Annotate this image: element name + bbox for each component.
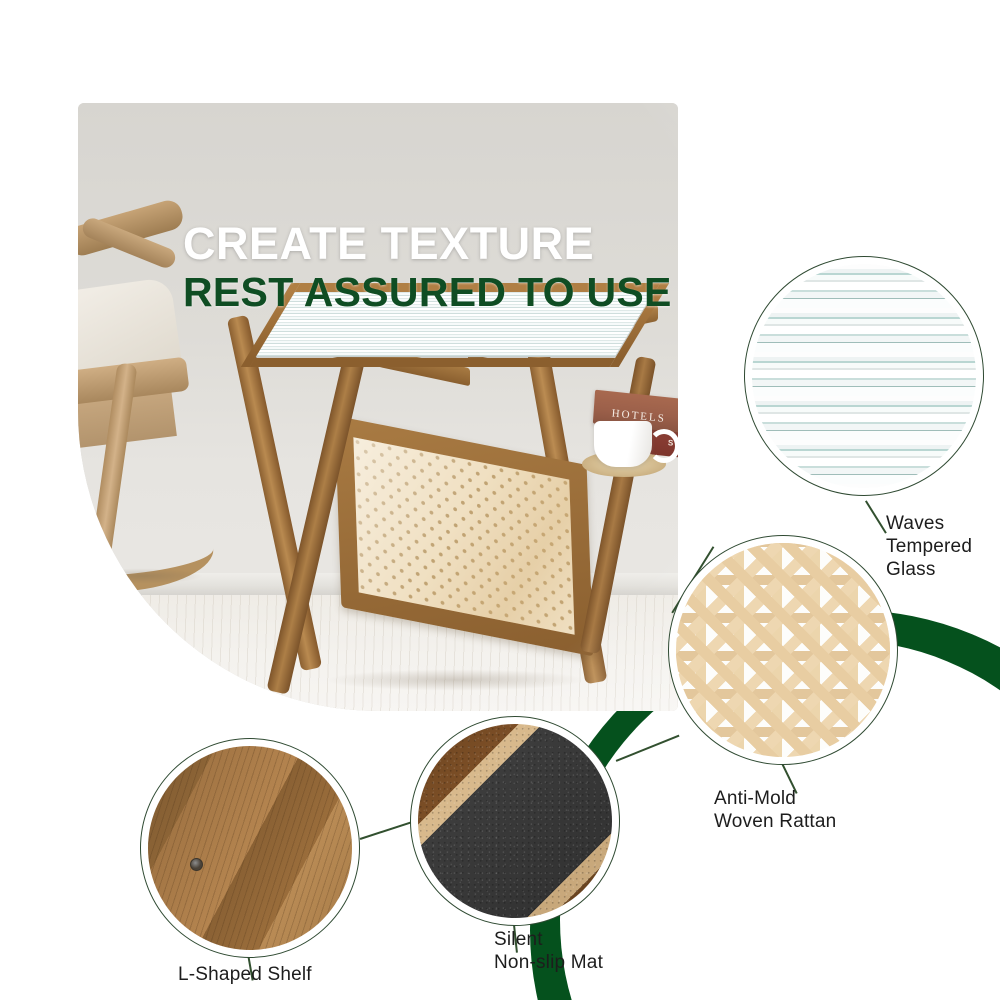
detail-circle-glass <box>744 256 984 496</box>
feature-label-rattan: Anti-Mold Woven Rattan <box>714 787 836 833</box>
feature-label-mat: Silent Non-slip Mat <box>494 928 603 974</box>
feature-label-shelf: L-Shaped Shelf <box>178 963 312 986</box>
anti-mold-woven-rattan-swatch <box>676 543 890 757</box>
feature-label-glass: Waves Tempered Glass <box>886 512 972 582</box>
headline-primary: CREATE TEXTURE <box>183 221 672 267</box>
ceramic-mug <box>594 421 652 467</box>
hero-product-photo: STATION HOTELS CREATE TEXTURE REST ASSUR… <box>78 103 678 711</box>
rattan-swatch-inner <box>676 543 890 757</box>
photo-vignette <box>78 103 678 711</box>
detail-circle-shelf <box>140 738 360 958</box>
mat-swatch-inner <box>418 724 612 918</box>
mug-handle <box>648 429 678 463</box>
product-feature-graphic: STATION HOTELS CREATE TEXTURE REST ASSUR… <box>0 0 1000 1000</box>
waves-tempered-glass-swatch <box>752 264 976 488</box>
connector-line-glass <box>865 500 886 533</box>
headline-block: CREATE TEXTURE REST ASSURED TO USE <box>183 221 672 314</box>
detail-circle-mat <box>410 716 620 926</box>
detail-circle-rattan <box>668 535 898 765</box>
screw-icon <box>190 858 203 871</box>
glass-swatch-inner <box>752 264 976 488</box>
l-shaped-shelf-swatch <box>148 746 352 950</box>
silent-non-slip-mat-swatch <box>418 724 612 918</box>
headline-secondary: REST ASSURED TO USE <box>183 271 672 314</box>
shelf-swatch-inner <box>148 746 352 950</box>
